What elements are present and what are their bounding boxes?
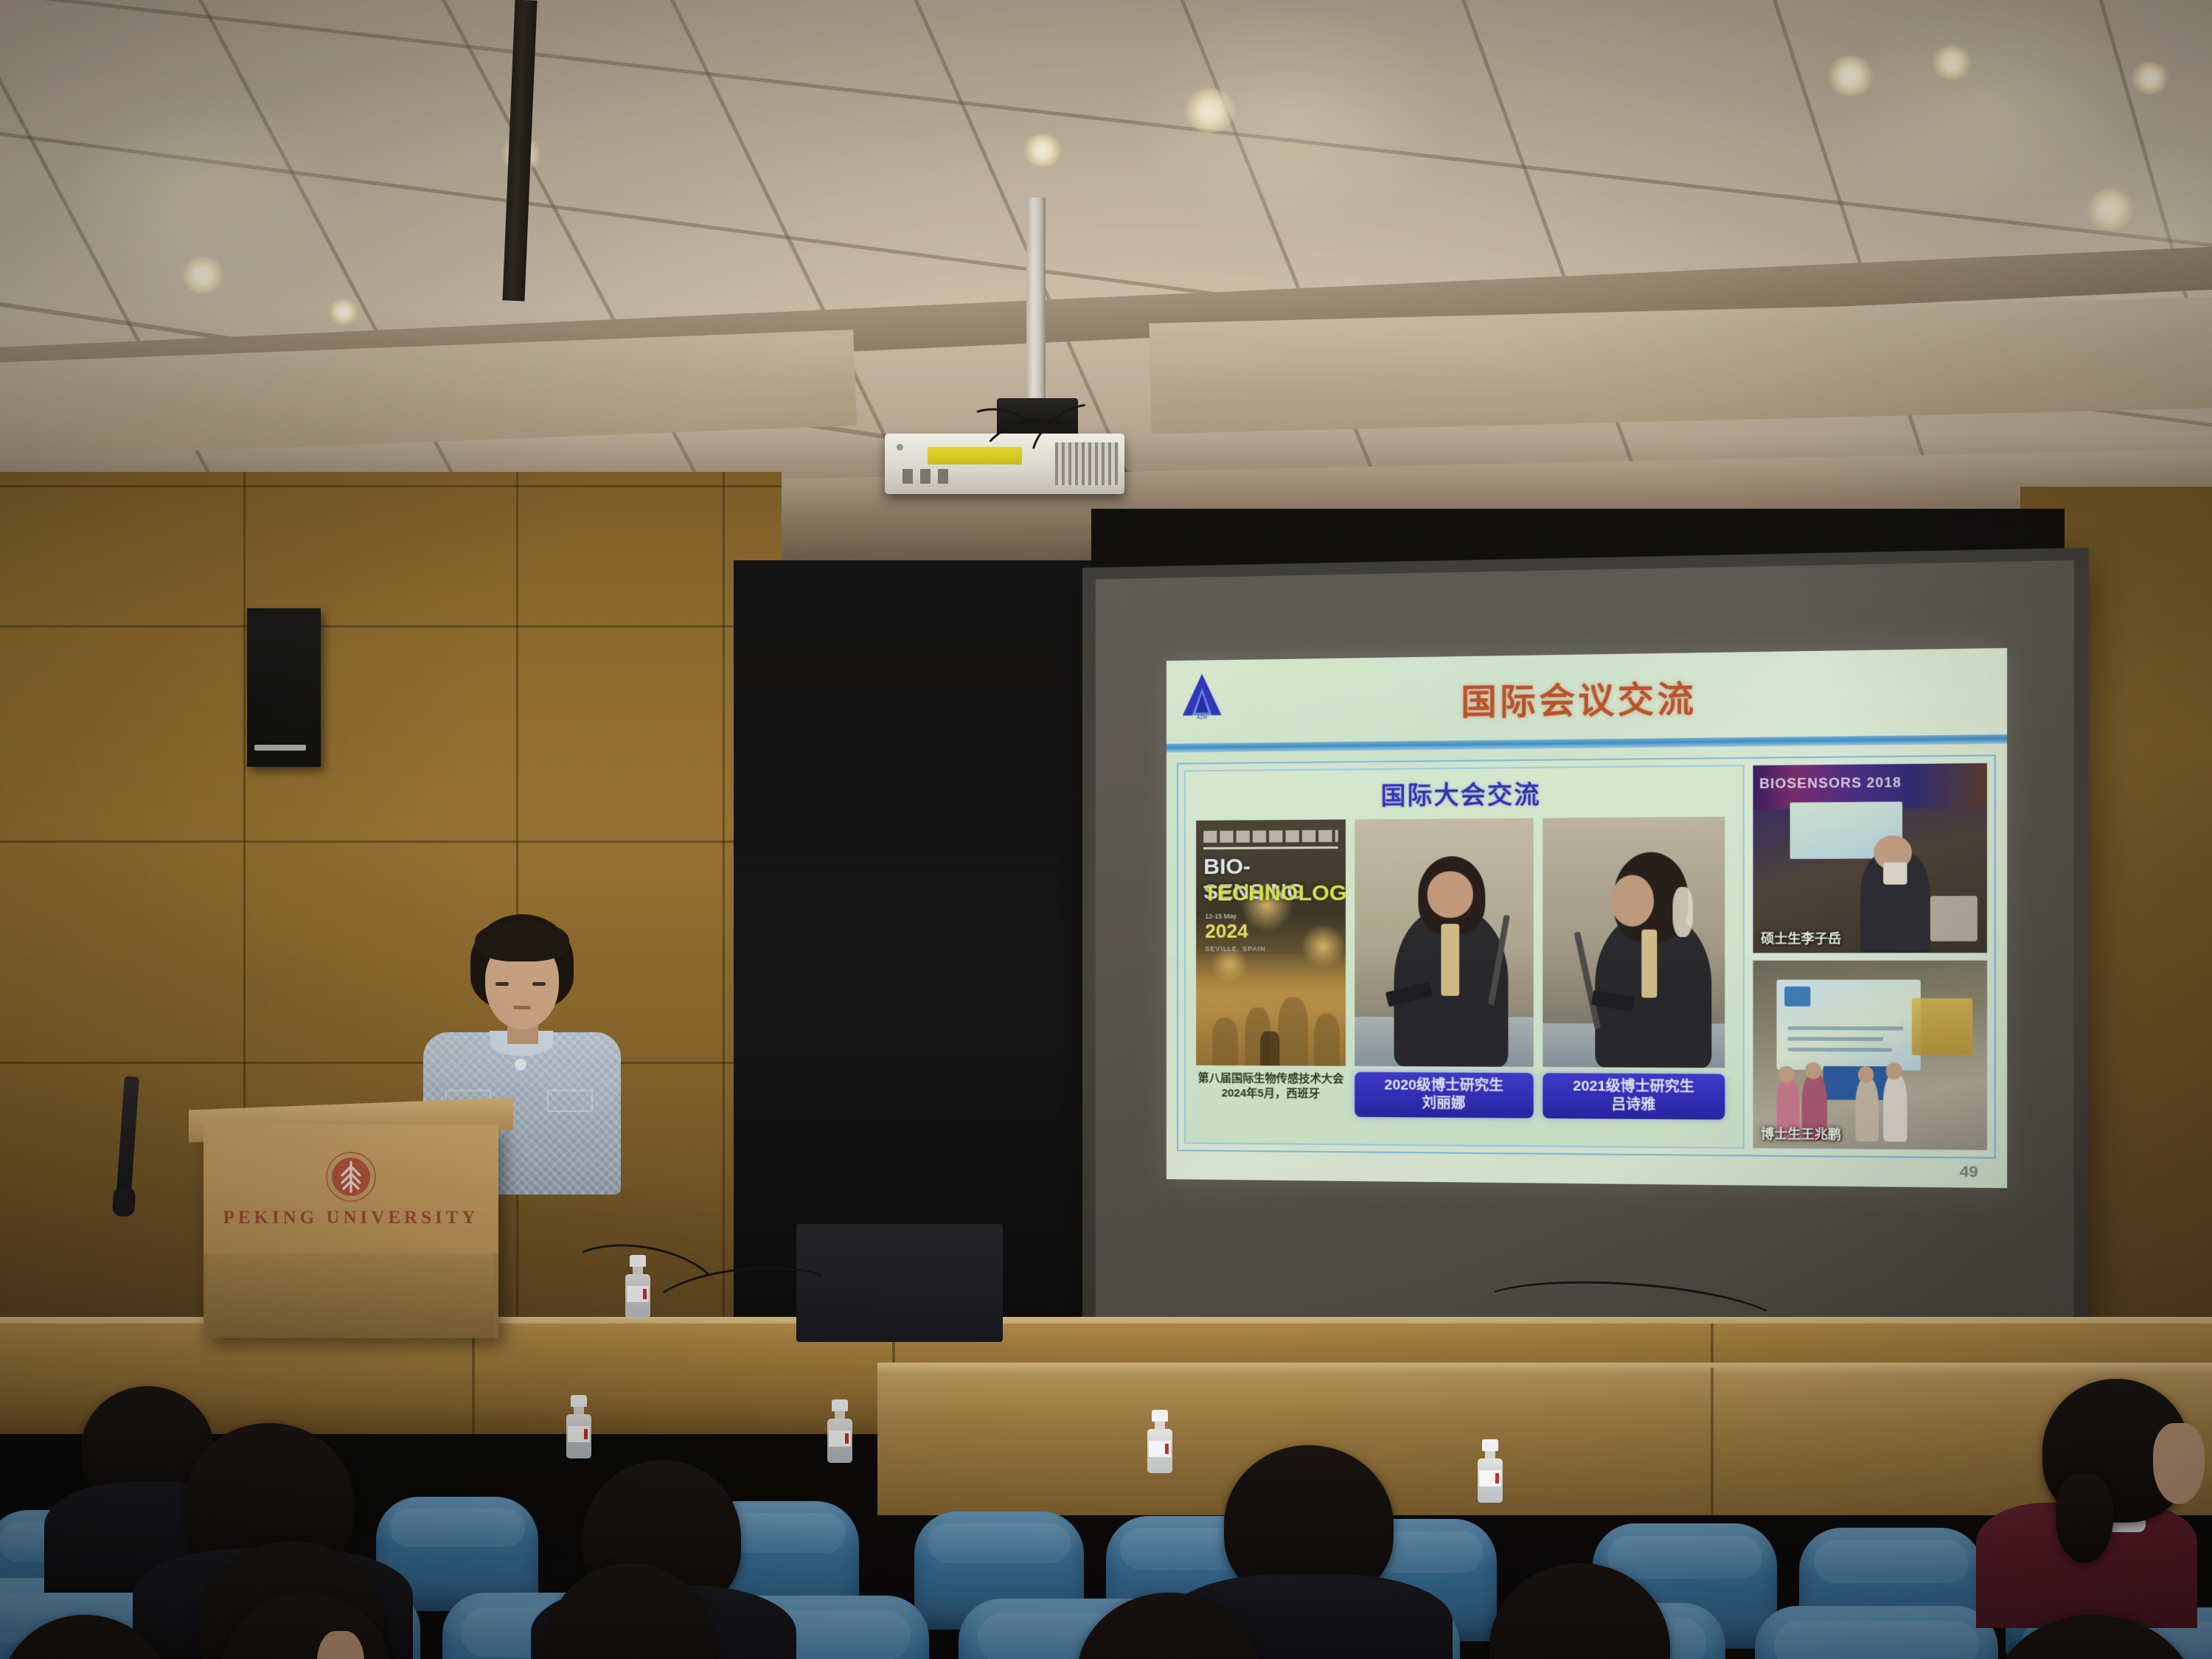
auditorium-seat bbox=[1755, 1606, 1998, 1659]
student-badge-2-line-1: 2021级博士研究生 bbox=[1545, 1077, 1722, 1096]
audience-seating bbox=[0, 1371, 2212, 1659]
conference-photo-poster-session: 博士生王兆鹏 bbox=[1753, 960, 1988, 1151]
student-badge-2: 2021级博士研究生 吕诗雅 bbox=[1543, 1073, 1725, 1119]
ceiling-downlight bbox=[1827, 56, 1874, 96]
dark-stage-wall bbox=[734, 560, 1110, 1335]
lectern-base bbox=[208, 1253, 494, 1338]
slide-photo-row: BIO-SENSING TECHNOLOGY 12-15 May 2024 SE… bbox=[1186, 816, 1743, 1068]
screen-surface: AZM 国际会议交流 国际大会交流 bbox=[1096, 560, 2074, 1370]
wall-speaker bbox=[247, 608, 321, 767]
lectern-front-face: PEKING UNIVERSITY bbox=[204, 1124, 498, 1253]
poster-caption-line-1: 第八届国际生物传感技术大会 bbox=[1196, 1071, 1346, 1088]
poster-caption: 第八届国际生物传感技术大会 2024年5月，西班牙 bbox=[1196, 1071, 1346, 1102]
slide-title: 国际会议交流 bbox=[1166, 665, 2007, 728]
ceiling-downlight bbox=[1932, 46, 1972, 80]
poster-caption-line-2: 2024年5月，西班牙 bbox=[1196, 1086, 1346, 1102]
ceiling-downlight bbox=[2131, 62, 2169, 94]
projection-screen: AZM 国际会议交流 国际大会交流 bbox=[1082, 548, 2089, 1385]
student-badge-1-line-1: 2020级博士研究生 bbox=[1357, 1077, 1530, 1096]
ceiling-downlight bbox=[1184, 88, 1236, 133]
slide-caption-row: 第八届国际生物传感技术大会 2024年5月，西班牙 2020级博士研究生 刘丽娜… bbox=[1186, 1065, 1743, 1119]
lectern: PEKING UNIVERSITY bbox=[204, 1124, 498, 1338]
slide-right-panel: BIOSENSORS 2018 硕士生李子岳 bbox=[1753, 762, 1988, 1151]
water-bottle bbox=[625, 1255, 650, 1318]
student-badge-1: 2020级博士研究生 刘丽娜 bbox=[1354, 1072, 1533, 1118]
slide-subtitle: 国际大会交流 bbox=[1186, 773, 1743, 813]
slide-left-panel: 国际大会交流 BIO-SENSING TECHNOLOGY bbox=[1184, 765, 1745, 1149]
ceiling-downlight bbox=[329, 299, 358, 324]
water-bottle bbox=[1147, 1410, 1172, 1473]
ceiling-downlight bbox=[181, 257, 224, 293]
lectern-institution-name: PEKING UNIVERSITY bbox=[223, 1208, 479, 1228]
audience-member-face bbox=[2153, 1423, 2205, 1504]
slide-title-rule bbox=[1166, 734, 2007, 753]
peking-university-seal-icon bbox=[324, 1150, 378, 1203]
student-badge-1-line-2: 刘丽娜 bbox=[1357, 1094, 1530, 1113]
slide-number: 49 bbox=[1960, 1163, 1978, 1181]
student-badge-2-line-2: 吕诗雅 bbox=[1545, 1096, 1722, 1115]
slide-content-area: 国际大会交流 BIO-SENSING TECHNOLOGY bbox=[1177, 754, 1996, 1158]
poster-line-2: TECHNOLOGY bbox=[1203, 880, 1346, 906]
auditorium-presentation-scene: AZM 国际会议交流 国际大会交流 bbox=[0, 0, 2212, 1659]
audience-member-ponytail bbox=[2056, 1475, 2113, 1563]
ceiling-downlight bbox=[2087, 189, 2134, 230]
conference-speaker-photo-2 bbox=[1543, 817, 1725, 1068]
poster-city: SEVILLE, SPAIN bbox=[1205, 945, 1266, 953]
poster-date: 12-15 May bbox=[1205, 912, 1237, 919]
photo-caption-doctoral-student: 博士生王兆鹏 bbox=[1761, 1123, 1841, 1143]
ceiling-downlight bbox=[1023, 134, 1062, 167]
presentation-slide: AZM 国际会议交流 国际大会交流 bbox=[1166, 648, 2007, 1189]
banner-text-biosensors: BIOSENSORS 2018 bbox=[1759, 775, 1902, 792]
conference-speaker-photo-1 bbox=[1354, 818, 1533, 1067]
poster-year: 2024 bbox=[1205, 919, 1248, 942]
conference-poster-image: BIO-SENSING TECHNOLOGY 12-15 May 2024 SE… bbox=[1196, 819, 1346, 1065]
water-bottle bbox=[1478, 1439, 1503, 1503]
conference-photo-biosensors-2018: BIOSENSORS 2018 硕士生李子岳 bbox=[1753, 762, 1988, 953]
photo-caption-master-student: 硕士生李子岳 bbox=[1761, 928, 1841, 947]
projector-mount-pole bbox=[1026, 198, 1046, 411]
